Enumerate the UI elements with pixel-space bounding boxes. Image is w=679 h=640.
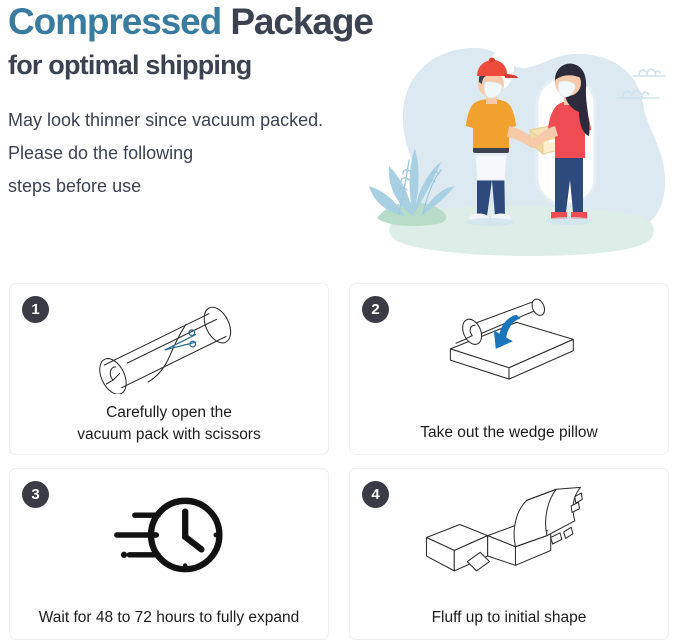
step-4-caption: Fluff up to initial shape (350, 607, 668, 629)
step-2-illustration (350, 292, 668, 400)
step-badge-1: 1 (22, 296, 49, 323)
step-card-1: 1 (9, 283, 329, 455)
page-title: Compressed Package (8, 0, 428, 44)
page-subtitle: for optimal shipping (8, 48, 428, 82)
step-card-3: 3 Wait for 48 to 72 hours to fully expan… (9, 468, 329, 640)
title-accent-word: Compressed (8, 1, 221, 42)
step-2-caption: Take out the wedge pillow (350, 422, 668, 444)
step-card-2: 2 (349, 283, 669, 455)
step-4-illustration (350, 477, 668, 585)
step-1-caption: Carefully open the vacuum pack with scis… (10, 402, 328, 446)
courier-shirt (466, 99, 516, 148)
step-badge-2: 2 (362, 296, 389, 323)
intro-line: steps before use (8, 170, 428, 203)
hero-section: Compressed Package for optimal shipping … (0, 0, 679, 275)
step-3-illustration (10, 483, 328, 587)
hero-text-block: Compressed Package for optimal shipping … (8, 0, 428, 203)
caption-line: Take out the wedge pillow (350, 422, 668, 444)
unrolling-wedge-pillow-icon (414, 294, 604, 398)
caption-line: vacuum pack with scissors (10, 424, 328, 446)
step-3-caption: Wait for 48 to 72 hours to fully expand (10, 607, 328, 629)
title-dark-word: Package (230, 1, 372, 42)
step-card-4: 4 (349, 468, 669, 640)
caption-line: Wait for 48 to 72 hours to fully expand (10, 607, 328, 629)
clock-dot-bottom (183, 563, 188, 568)
courier-bag (475, 152, 507, 180)
clock-dot-right (213, 533, 218, 538)
clock-with-speed-lines-icon (79, 489, 259, 581)
step-1-illustration (10, 292, 328, 400)
assembled-wedge-bed-rest-icon (411, 480, 607, 582)
speed-dot (121, 552, 127, 558)
caption-line: Carefully open the (10, 402, 328, 424)
intro-line: Please do the following (8, 137, 428, 170)
instruction-steps-grid: 1 (0, 283, 679, 640)
rolled-vacuum-pack-with-scissors-icon (74, 298, 264, 394)
step-badge-4: 4 (362, 481, 389, 508)
step-badge-3: 3 (22, 481, 49, 508)
intro-line: May look thinner since vacuum packed. (8, 104, 428, 137)
caption-line: Fluff up to initial shape (350, 607, 668, 629)
intro-paragraph: May look thinner since vacuum packed. Pl… (8, 104, 428, 203)
